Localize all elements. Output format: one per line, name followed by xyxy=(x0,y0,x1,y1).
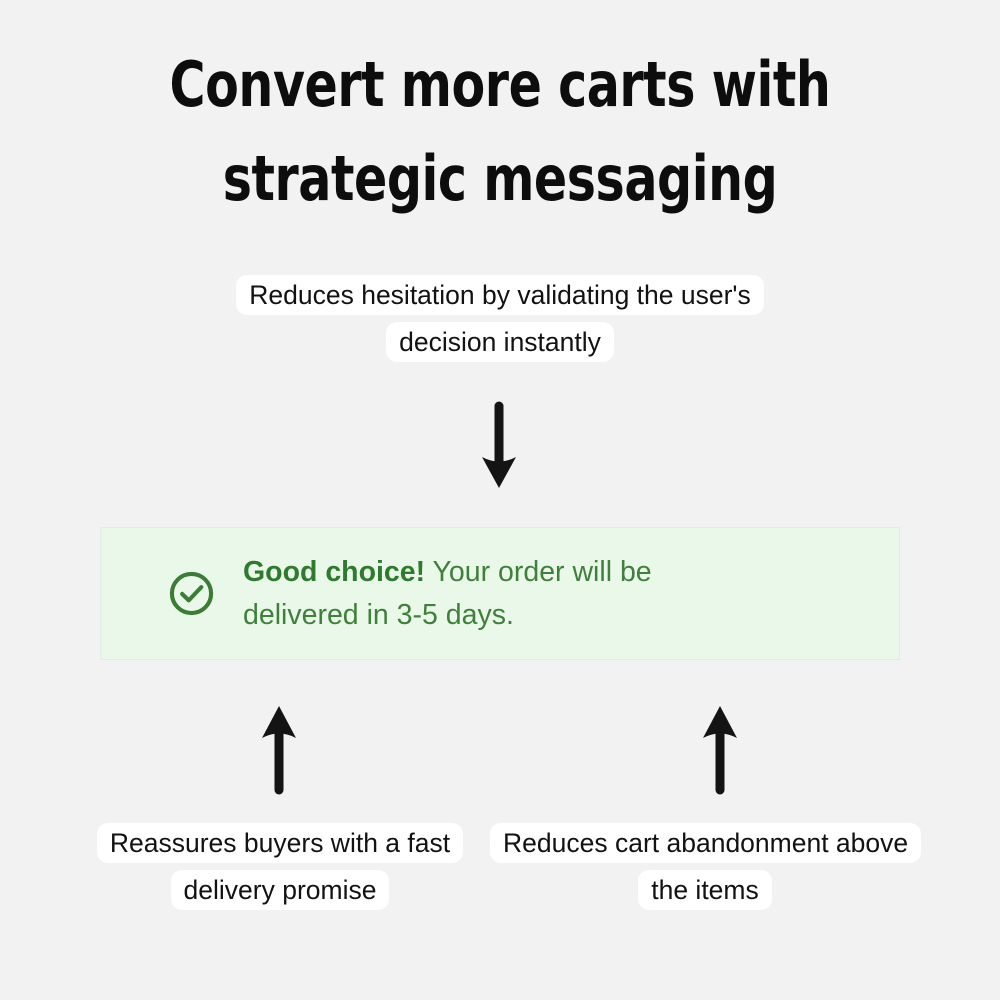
alert-headline: Good choice! xyxy=(243,556,425,588)
callout-top-text: Reduces hesitation by validating the use… xyxy=(236,275,764,362)
page-title: Convert more carts with strategic messag… xyxy=(60,38,940,226)
callout-bottom-left-text: Reassures buyers with a fast delivery pr… xyxy=(97,823,463,910)
callout-bottom-right-text: Reduces cart abandonment above the items xyxy=(490,823,921,910)
infographic-canvas: Convert more carts with strategic messag… xyxy=(0,0,1000,1000)
arrow-up-right-icon xyxy=(690,700,750,796)
arrow-down-icon xyxy=(469,400,529,492)
callout-bottom-left: Reassures buyers with a fast delivery pr… xyxy=(80,820,480,914)
success-alert: Good choice! Your order will be delivere… xyxy=(100,527,900,660)
callout-top: Reduces hesitation by validating the use… xyxy=(230,272,770,366)
alert-message: Good choice! Your order will be delivere… xyxy=(243,551,763,637)
check-circle-icon xyxy=(168,570,215,617)
arrow-up-left-icon xyxy=(249,700,309,796)
callout-bottom-right: Reduces cart abandonment above the items xyxy=(490,820,920,914)
